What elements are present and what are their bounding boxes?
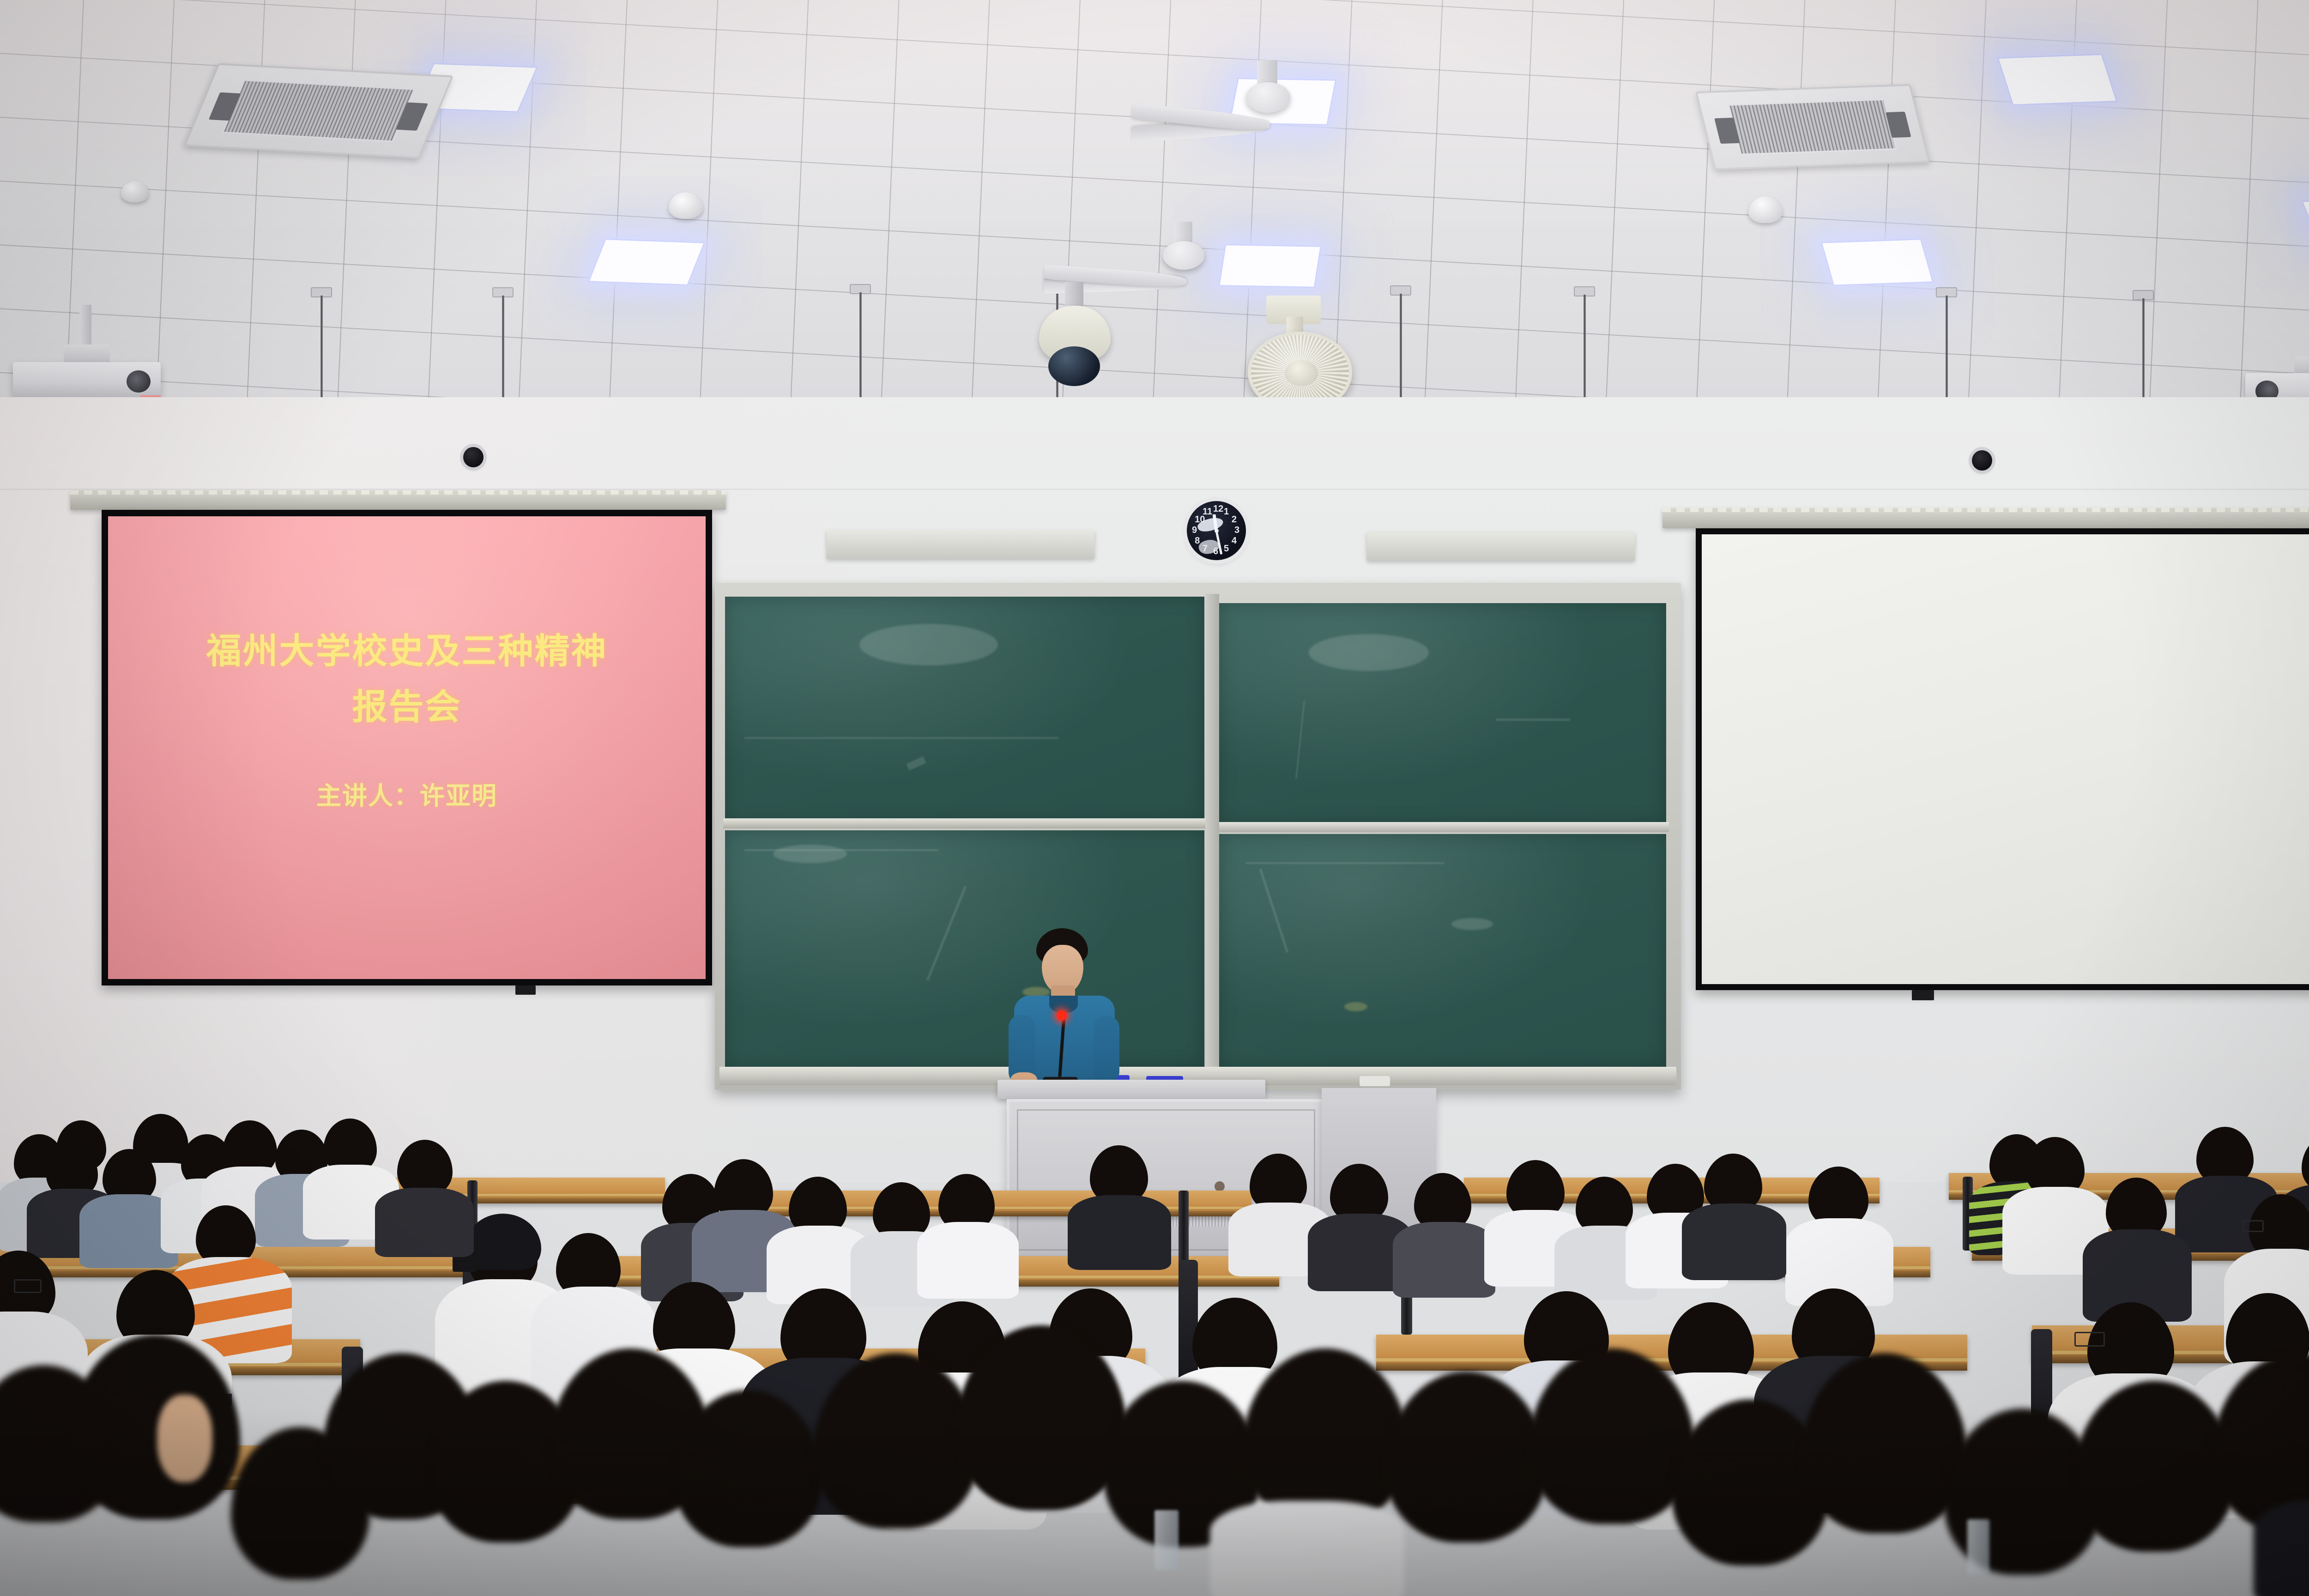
eyeglasses — [14, 1279, 42, 1293]
clock-numeral: 2 — [1232, 514, 1237, 525]
cassette-air-conditioner — [184, 63, 453, 159]
chalkboard-panel-upper-right[interactable] — [1219, 603, 1666, 825]
left-projection-screen[interactable]: 福州大学校史及三种精神 报告会 主讲人：许亚明 — [102, 510, 712, 985]
lecture-hall-photo: 121234567891011 福州大学校史及三种精神 报告会 主讲人：许亚明 — [0, 0, 2309, 1596]
microphone-indicator-led — [1057, 1010, 1067, 1021]
chalkboard-panel-upper-left[interactable] — [725, 597, 1204, 823]
clock-numeral: 3 — [1234, 525, 1239, 536]
audience-member-face — [157, 1395, 212, 1482]
board-light-valance — [827, 530, 1094, 559]
clock-numeral: 6 — [1213, 546, 1218, 557]
clock-numeral: 1 — [1224, 507, 1229, 517]
wall-speaker-right — [1972, 450, 1992, 471]
clock-numeral: 5 — [1224, 544, 1229, 554]
chalkboard-mid-rail — [1216, 822, 1669, 832]
water-bottle[interactable] — [1967, 1519, 1989, 1575]
chalkboard-mid-rail — [723, 818, 1207, 828]
right-screen-roller-housing — [1662, 508, 2309, 528]
audience-member-foreground — [1210, 1501, 1404, 1596]
wall-clock: 121234567891011 — [1187, 501, 1246, 560]
clock-numeral: 12 — [1213, 504, 1223, 514]
clock-numeral: 11 — [1203, 507, 1212, 517]
wall-seam — [0, 489, 2309, 490]
recessed-fluorescent-light — [588, 238, 706, 286]
smoke-detector — [121, 181, 149, 202]
board-light-valance — [1367, 532, 1635, 561]
cassette-air-conditioner — [1695, 84, 1930, 170]
audience-member — [1682, 1203, 1786, 1280]
audience — [0, 1030, 2309, 1596]
audience-member — [56, 1120, 106, 1171]
clock-numeral: 7 — [1203, 544, 1208, 554]
audience-member — [917, 1222, 1019, 1299]
eyeglasses — [2074, 1332, 2105, 1347]
sliding-chalkboard — [715, 583, 1681, 1090]
right-screen-pull-tab[interactable] — [1912, 990, 1934, 1000]
right-projection-screen[interactable] — [1696, 528, 2309, 990]
left-screen-roller-housing — [70, 490, 726, 510]
slide-presenter-line: 主讲人：许亚明 — [108, 775, 706, 812]
recessed-fluorescent-light — [1820, 238, 1934, 286]
water-bottle[interactable] — [1154, 1510, 1179, 1570]
recessed-fluorescent-light — [1997, 54, 2117, 106]
audience-member — [375, 1188, 474, 1257]
eyeglasses — [2243, 1220, 2264, 1232]
audience-member — [1393, 1222, 1495, 1298]
desk-leg — [1179, 1191, 1189, 1269]
clock-numeral: 4 — [1232, 536, 1237, 546]
slide-title-line-1: 福州大学校史及三种精神 — [108, 623, 706, 673]
left-screen-surface: 福州大学校史及三种精神 报告会 主讲人：许亚明 — [108, 516, 706, 979]
audience-member-foreground — [2254, 1501, 2309, 1596]
clock-center-pin — [1215, 529, 1219, 533]
chalkboard-center-divider — [1205, 594, 1219, 1070]
clock-numeral: 9 — [1192, 525, 1197, 536]
slide-title-line-2: 报告会 — [108, 678, 706, 729]
dome-security-camera — [1030, 282, 1122, 388]
wall-speaker-left — [463, 447, 484, 467]
right-screen-surface — [1702, 534, 2309, 984]
clock-numeral: 8 — [1195, 536, 1200, 546]
ceiling-fan — [1131, 60, 1408, 166]
left-screen-pull-tab[interactable] — [515, 985, 536, 995]
audience-member — [1068, 1195, 1171, 1270]
